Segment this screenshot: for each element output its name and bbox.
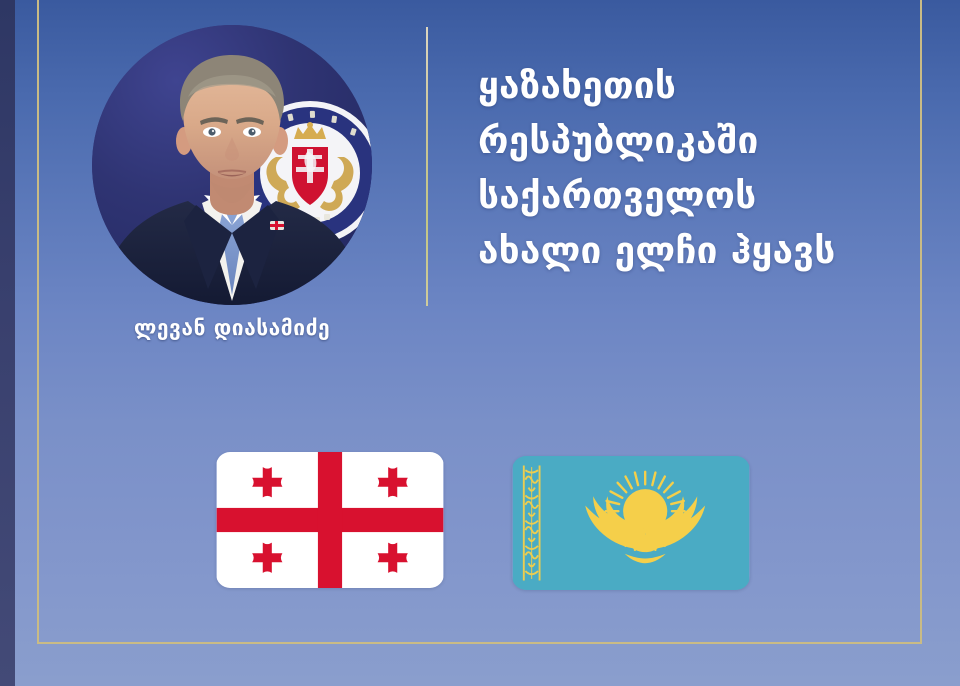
left-decorative-band [0, 0, 15, 686]
kazakhstan-flag [512, 456, 750, 590]
headline-line-1: ყაზახეთის [478, 58, 908, 113]
headline-line-2: რესპუბლიკაში [478, 113, 908, 168]
news-graphic-canvas: ლევან დიასამიძე ყაზახეთის რესპუბლიკაში ს… [0, 0, 960, 686]
portrait-photo [92, 25, 372, 305]
person-name-caption: ლევან დიასამიძე [52, 316, 412, 340]
georgia-flag [216, 452, 444, 588]
vertical-gold-divider [426, 27, 428, 306]
headline-line-4: ახალი ელჩი ჰყავს [478, 223, 908, 278]
headline: ყაზახეთის რესპუბლიკაში საქართველოს ახალი… [478, 58, 908, 278]
headline-line-3: საქართველოს [478, 168, 908, 223]
